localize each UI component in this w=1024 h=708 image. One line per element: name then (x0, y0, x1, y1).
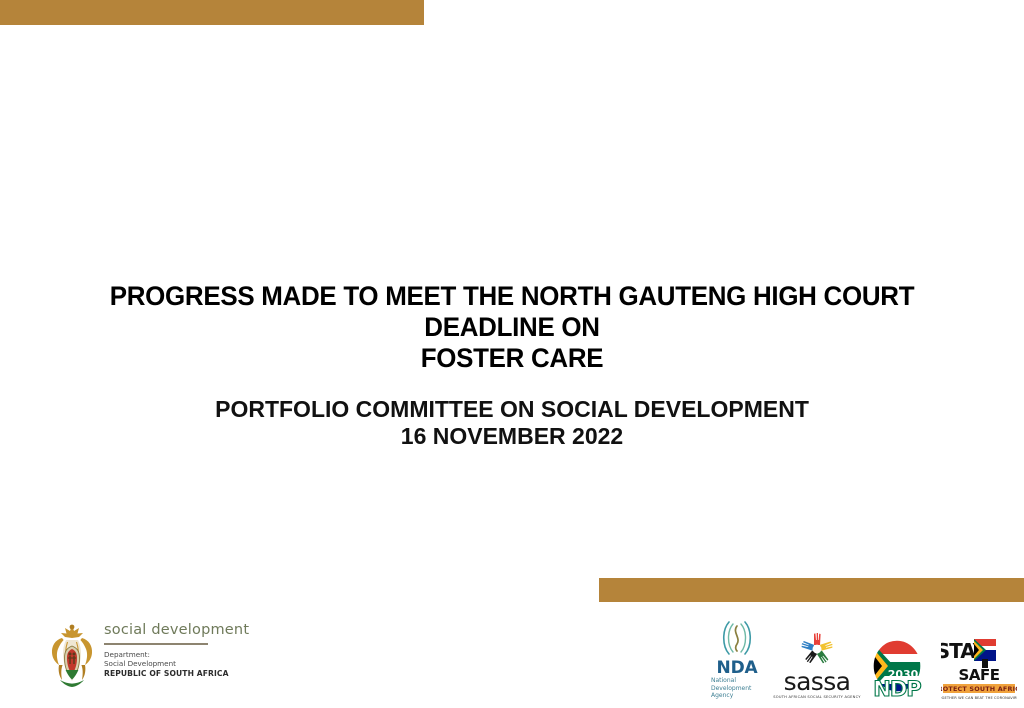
dsd-logo-line-1: Department: (104, 650, 249, 659)
dsd-logo-line-2: Social Development (104, 659, 249, 668)
stay-safe-mark-icon: STAY SAFE PROTECT SOUTH AFRICA TOGETHER … (941, 636, 1017, 700)
ndp-logo: 2030 NDP (866, 638, 928, 700)
nda-leaf-mark-icon (717, 618, 757, 658)
nda-sub-line-3: Agency (706, 692, 768, 700)
ndp-2030-flag-mark-icon: 2030 NDP (868, 638, 926, 700)
dsd-logo-divider (104, 643, 208, 645)
top-accent-bar (0, 0, 424, 25)
ndp-acronym-text: NDP (873, 677, 921, 700)
sassa-wordmark: sassa (784, 669, 851, 694)
stay-safe-caption-text: TOGETHER WE CAN BEAT THE CORONAVIRUS (941, 696, 1017, 700)
title-spacer (0, 374, 1024, 396)
sassa-caption: SOUTH AFRICAN SOCIAL SECURITY AGENCY (773, 694, 861, 700)
slide-subtitle-line-2: 16 NOVEMBER 2022 (0, 423, 1024, 450)
sassa-logo: sassa SOUTH AFRICAN SOCIAL SECURITY AGEN… (780, 630, 854, 700)
south-african-coat-of-arms-icon (48, 620, 96, 688)
stay-safe-logo: STAY SAFE PROTECT SOUTH AFRICA TOGETHER … (940, 636, 1018, 700)
nda-acronym: NDA (717, 659, 758, 677)
dsd-logo-line-3: REPUBLIC OF SOUTH AFRICA (104, 669, 249, 678)
safe-word-text: SAFE (959, 666, 1000, 684)
dsd-logo-text: social development Department: Social De… (104, 620, 249, 678)
nda-sub-line-2: Development (706, 685, 768, 693)
partner-logo-strip: NDA National Development Agency (706, 616, 1018, 700)
sassa-hands-mark-icon (797, 630, 837, 668)
slide-title-line-2: FOSTER CARE (42, 343, 983, 374)
bottom-accent-bar (599, 578, 1024, 602)
nda-sub-line-1: National (706, 677, 768, 685)
slide-subtitle-line-1: PORTFOLIO COMMITTEE ON SOCIAL DEVELOPMEN… (0, 396, 1024, 423)
title-block: PROGRESS MADE TO MEET THE NORTH GAUTENG … (0, 281, 1024, 450)
dsd-logo-name: social development (104, 622, 249, 639)
presentation-slide: PROGRESS MADE TO MEET THE NORTH GAUTENG … (0, 0, 1024, 708)
slide-title-line-1: PROGRESS MADE TO MEET THE NORTH GAUTENG … (42, 281, 983, 343)
dsd-logo: social development Department: Social De… (48, 620, 249, 688)
nda-logo: NDA National Development Agency (706, 618, 768, 700)
stay-safe-banner-text: PROTECT SOUTH AFRICA (941, 685, 1017, 693)
